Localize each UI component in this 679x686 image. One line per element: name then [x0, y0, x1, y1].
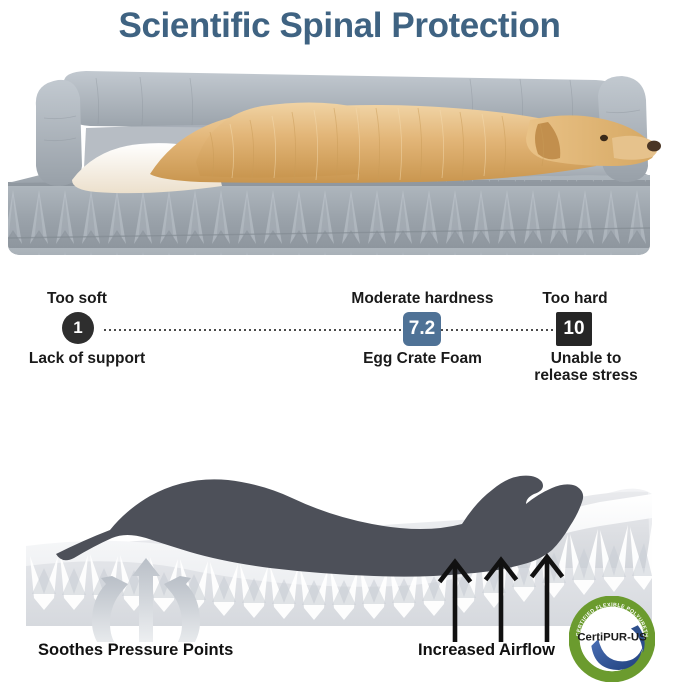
scale-right-top-label: Too hard — [492, 290, 658, 308]
certipur-us-logo: CONTAINS CERTIFIED FLEXIBLE POLYURETHANE… — [569, 596, 655, 682]
scale-left-bottom-label: Lack of support — [0, 350, 174, 367]
infographic-root: Scientific Spinal Protection — [0, 0, 679, 686]
scale-marker-hard: 10 — [556, 312, 592, 346]
certipur-brand-text: CertiPUR-US — [577, 632, 647, 644]
page-title: Scientific Spinal Protection — [0, 0, 679, 52]
soothes-pressure-points-label: Soothes Pressure Points — [38, 641, 233, 660]
scale-marker-moderate: 7.2 — [403, 312, 441, 346]
scale-right-bottom-line1: Unable to — [496, 350, 676, 367]
scale-line-right — [441, 329, 556, 331]
scale-marker-soft: 1 — [62, 312, 94, 344]
dog-on-orthopedic-bed-photo — [0, 62, 679, 267]
scale-right-bottom-line2: release stress — [496, 367, 676, 384]
scale-left-top-label: Too soft — [0, 290, 154, 308]
scale-right-bottom-label: Unable to release stress — [496, 350, 676, 385]
hardness-scale: Too soft 1 Lack of support Moderate hard… — [0, 288, 679, 393]
scale-line-left — [104, 329, 403, 331]
increased-airflow-label: Increased Airflow — [418, 641, 555, 660]
